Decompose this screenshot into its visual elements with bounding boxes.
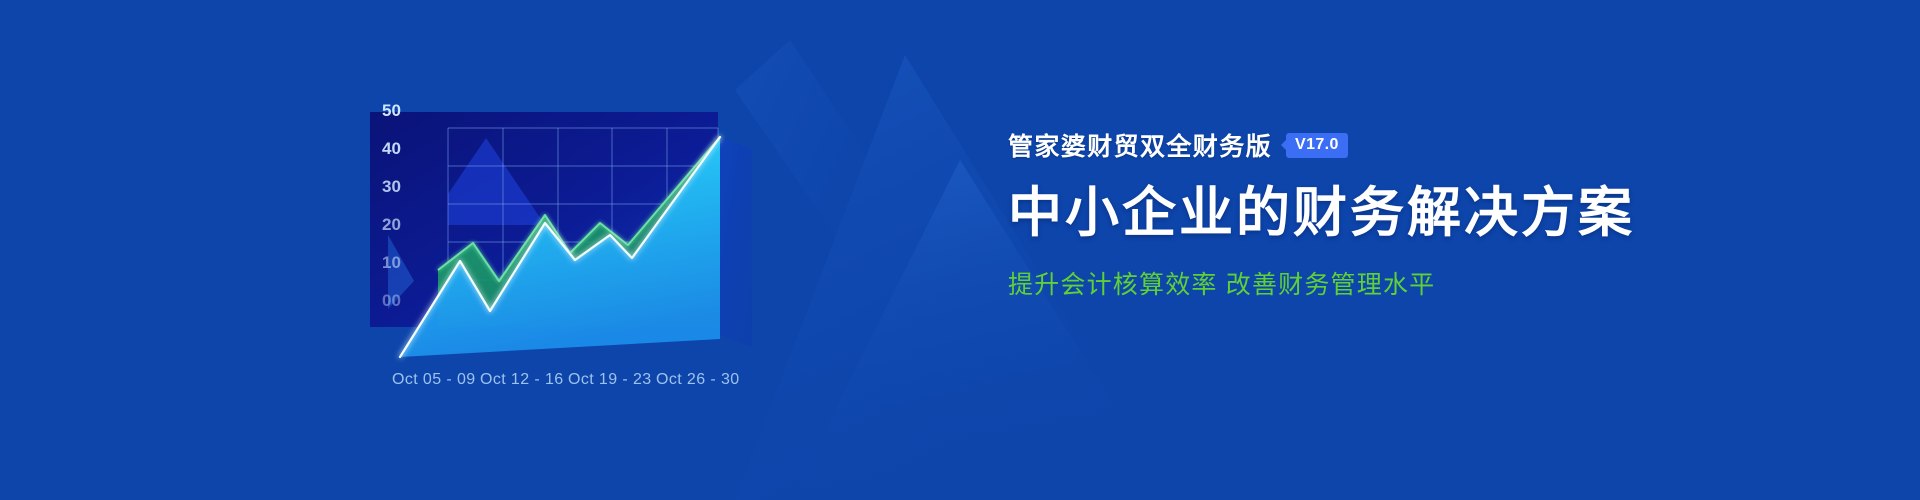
y-tick-label: 20 [382,215,401,234]
hero-chart: 50 40 30 20 10 00 Oct 05 - 09 Oct 12 - 1… [370,95,930,415]
headline: 中小企业的财务解决方案 [1008,184,1768,242]
y-tick-label: 00 [382,291,401,310]
version-badge: V17.0 [1286,133,1348,158]
y-tick-label: 30 [382,177,401,196]
chart-svg: 50 40 30 20 10 00 Oct 05 - 09 Oct 12 - 1… [370,95,930,415]
promo-banner: 50 40 30 20 10 00 Oct 05 - 09 Oct 12 - 1… [0,0,1920,500]
copy-block: 管家婆财贸双全财务版 V17.0 中小企业的财务解决方案 提升会计核算效率 改善… [1008,128,1768,301]
y-tick-label: 40 [382,139,401,158]
y-tick-label: 10 [382,253,401,272]
chart-back-slab [720,137,752,347]
product-name: 管家婆财贸双全财务版 [1008,127,1272,163]
x-tick-label: Oct 19 - 23 [568,371,652,388]
chart-x-axis: Oct 05 - 09 Oct 12 - 16 Oct 19 - 23 Oct … [392,371,740,388]
x-tick-label: Oct 05 - 09 [392,371,476,388]
x-tick-label: Oct 26 - 30 [656,371,740,388]
y-tick-label: 50 [382,101,401,120]
subheadline: 提升会计核算效率 改善财务管理水平 [1008,265,1768,301]
x-tick-label: Oct 12 - 16 [480,371,564,388]
product-name-row: 管家婆财贸双全财务版 V17.0 [1008,128,1768,162]
